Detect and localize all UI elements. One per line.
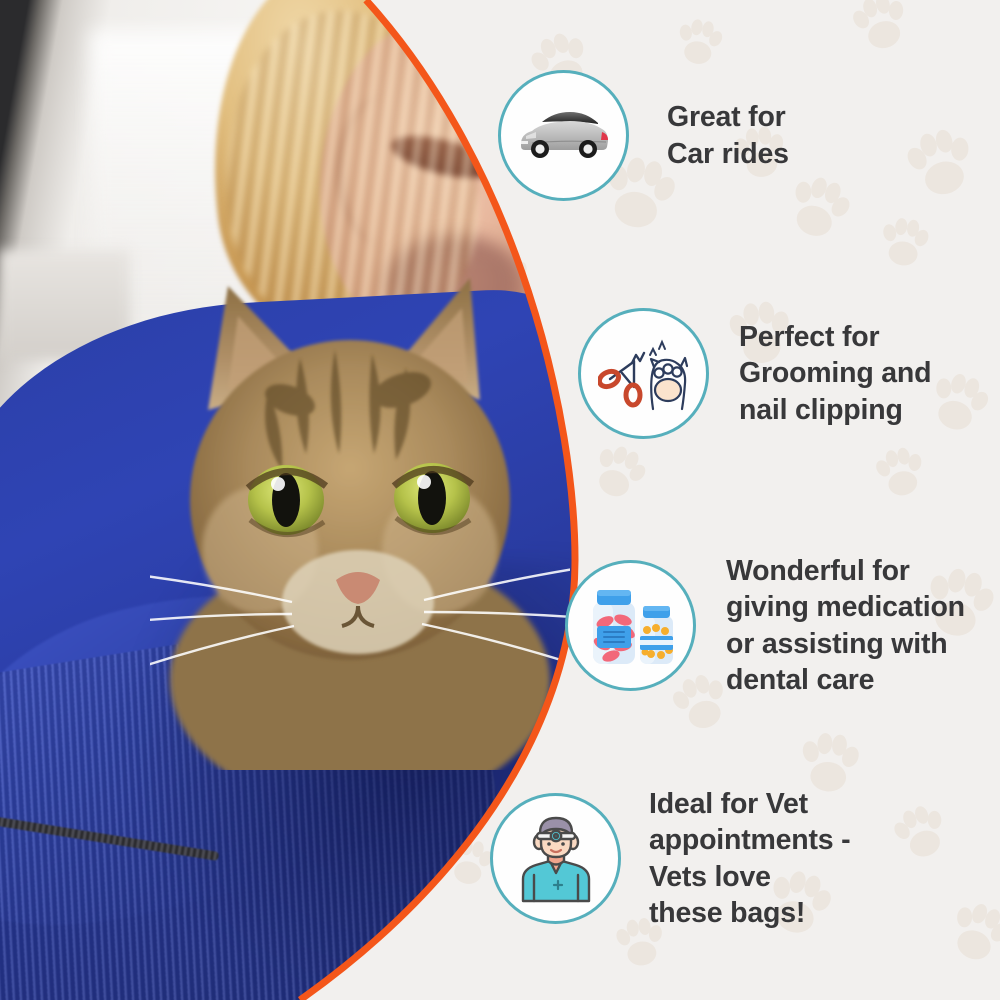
feature-icon-circle (578, 308, 709, 439)
feature-icon-circle (490, 793, 621, 924)
veterinarian-icon (510, 813, 602, 905)
nail-clipper-paw-icon (598, 333, 690, 415)
feature-icon-circle (565, 560, 696, 691)
product-feature-infographic: Great for Car rides (0, 0, 1000, 1000)
car-icon (518, 110, 610, 162)
feature-item-medication: Wonderful for giving medication or assis… (565, 553, 965, 699)
feature-item-vet: Ideal for Vet appointments - Vets love t… (490, 786, 850, 932)
feature-list: Great for Car rides (0, 0, 1000, 1000)
feature-item-car-rides: Great for Car rides (498, 70, 789, 201)
feature-label: Ideal for Vet appointments - Vets love t… (649, 786, 850, 932)
feature-label: Wonderful for giving medication or assis… (726, 553, 965, 699)
feature-item-grooming: Perfect for Grooming and nail clipping (578, 308, 931, 439)
feature-icon-circle (498, 70, 629, 201)
feature-label: Perfect for Grooming and nail clipping (739, 319, 931, 428)
pill-bottles-icon (583, 584, 679, 668)
feature-label: Great for Car rides (667, 99, 789, 172)
